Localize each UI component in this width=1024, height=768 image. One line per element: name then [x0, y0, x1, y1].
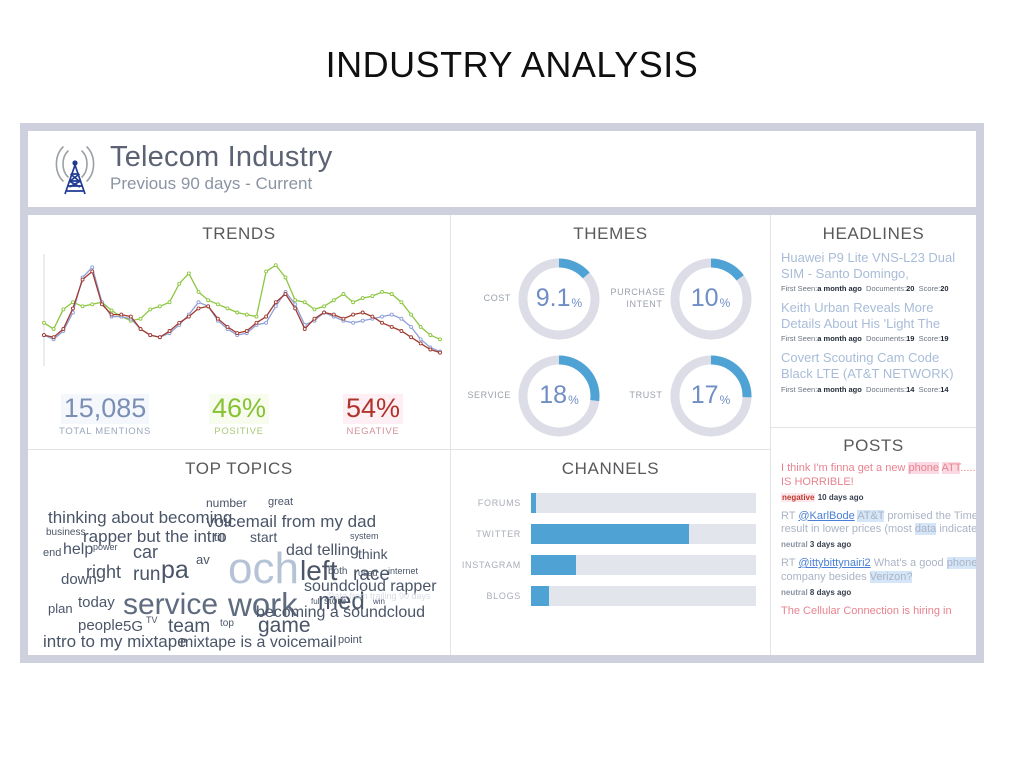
posts-panel: POSTS I think I'm finna get a new phone … — [771, 428, 976, 655]
word-cloud-term[interactable]: becoming a soundcloud — [256, 605, 425, 621]
right-column: HEADLINES Huawei P9 Lite VNS-L23 Dual SI… — [771, 215, 976, 655]
theme-gauge-label: COST — [459, 293, 511, 304]
brand-title: Telecom Industry — [110, 142, 332, 172]
theme-gauge-donut: 10% — [665, 253, 757, 345]
headline-text[interactable]: Covert Scouting Cam Code Black LTE (AT&T… — [781, 350, 968, 381]
brand-subtitle: Previous 90 days - Current — [110, 173, 332, 196]
word-cloud-term[interactable]: today — [78, 595, 115, 610]
theme-gauge-value-wrap: 18% — [513, 350, 605, 442]
post-text-line: The Cellular Connection is hiring in — [781, 605, 968, 619]
theme-gauge-unit: % — [720, 393, 731, 407]
trends-title: TRENDS — [28, 215, 450, 248]
channel-row[interactable]: INSTAGRAM — [457, 555, 756, 575]
word-cloud-term[interactable]: plan — [48, 602, 73, 615]
post-text-line: RT @ittybittynairi2 What's a good phone — [781, 557, 968, 571]
theme-gauge-donut: 17% — [665, 350, 757, 442]
post-text-segment: ..... — [960, 462, 975, 474]
headline-item[interactable]: Covert Scouting Cam Code Black LTE (AT&T… — [781, 350, 968, 393]
word-cloud: ochworkserviceleftmedgameraceteampaavrun… — [28, 485, 450, 645]
headline-meta: First Seen:a month ago Documents:20 Scor… — [781, 284, 968, 293]
post-mention-link[interactable]: @KarlBode — [798, 510, 854, 522]
post-keyword-highlight: phone — [947, 557, 976, 569]
word-cloud-term[interactable]: think — [358, 547, 388, 561]
post-text-segment: The Cellular Connection is hiring in — [781, 605, 952, 617]
channel-bar-list: FORUMSTWITTERINSTAGRAMBLOGS — [451, 483, 770, 606]
word-cloud-term[interactable]: number — [206, 497, 247, 509]
theme-gauge-label: TRUST — [611, 390, 663, 401]
headline-text[interactable]: Keith Urban Reveals More Details About H… — [781, 300, 968, 331]
word-cloud-term[interactable]: people — [78, 618, 123, 633]
headline-text[interactable]: Huawei P9 Lite VNS-L23 Dual SIM - Santo … — [781, 250, 968, 281]
channel-bar-track — [531, 524, 756, 544]
word-cloud-term[interactable]: business — [46, 528, 85, 538]
headline-list: Huawei P9 Lite VNS-L23 Dual SIM - Santo … — [771, 248, 976, 394]
theme-gauge-label: SERVICE — [459, 390, 511, 401]
post-keyword-highlight: phone — [908, 462, 939, 474]
word-cloud-term[interactable]: thinking about becoming — [48, 509, 232, 526]
headline-meta: First Seen:a month ago Documents:19 Scor… — [781, 334, 968, 343]
channel-name: BLOGS — [457, 591, 531, 601]
post-text-segment: promised the Time W — [884, 510, 976, 522]
word-cloud-term[interactable]: run — [133, 565, 160, 584]
theme-gauges: COST9.1%PURCHASEINTENT10%SERVICE18%TRUST… — [451, 248, 770, 444]
word-cloud-term[interactable]: system — [350, 532, 379, 541]
theme-gauge-value-wrap: 17% — [665, 350, 757, 442]
top-topics-title: TOP TOPICS — [28, 450, 450, 483]
theme-gauge-unit: % — [568, 393, 579, 407]
word-cloud-term[interactable]: voicemail from my dad — [206, 513, 376, 530]
dashboard-header: Telecom Industry Previous 90 days - Curr… — [28, 131, 976, 207]
theme-gauge: COST9.1% — [459, 250, 611, 347]
theme-gauge-donut: 18% — [513, 350, 605, 442]
post-meta: neutral 8 days ago — [781, 588, 968, 597]
brand-text: Telecom Industry Previous 90 days - Curr… — [110, 142, 332, 195]
post-keyword-highlight: ATT — [942, 462, 961, 474]
channel-row[interactable]: BLOGS — [457, 586, 756, 606]
headline-item[interactable]: Keith Urban Reveals More Details About H… — [781, 300, 968, 343]
channel-row[interactable]: TWITTER — [457, 524, 756, 544]
post-item[interactable]: The Cellular Connection is hiring in — [781, 605, 968, 619]
post-mention-link[interactable]: @ittybittynairi2 — [798, 557, 870, 569]
channel-bar-fill — [531, 493, 536, 513]
theme-gauge: SERVICE18% — [459, 347, 611, 444]
word-cloud-term[interactable]: mixtape is a voicemail — [180, 635, 337, 651]
headline-meta: First Seen:a month ago Documents:14 Scor… — [781, 385, 968, 394]
word-cloud-term[interactable]: both — [328, 567, 347, 577]
theme-gauge: PURCHASEINTENT10% — [611, 250, 763, 347]
post-text-segment: company besides — [781, 571, 870, 583]
metric-label: POSITIVE — [172, 426, 306, 437]
headlines-panel: HEADLINES Huawei P9 Lite VNS-L23 Dual SI… — [771, 215, 976, 428]
post-text-line: I think I'm finna get a new phone ATT...… — [781, 462, 968, 476]
post-item[interactable]: I think I'm finna get a new phone ATT...… — [781, 462, 968, 502]
channel-bar-fill — [531, 555, 576, 575]
post-text-segment: I think I'm finna get a new — [781, 462, 908, 474]
word-cloud-term[interactable]: internet — [388, 567, 418, 576]
post-meta: neutral 3 days ago — [781, 540, 968, 549]
headlines-title: HEADLINES — [771, 215, 976, 248]
post-timestamp: 10 days ago — [815, 493, 863, 502]
metric-total-mentions: 15,085 TOTAL MENTIONS — [38, 394, 172, 437]
theme-gauge: TRUST17% — [611, 347, 763, 444]
channel-name: FORUMS — [457, 498, 531, 508]
channel-bar-fill — [531, 524, 689, 544]
word-cloud-term[interactable]: great — [268, 497, 293, 508]
post-text-segment: What's a good — [871, 557, 947, 569]
theme-gauge-value: 10 — [691, 284, 719, 313]
posts-title: POSTS — [771, 428, 976, 460]
cell-tower-icon — [46, 141, 104, 197]
post-item[interactable]: RT @ittybittynairi2 What's a good phonec… — [781, 557, 968, 597]
post-keyword-highlight: AT&T — [857, 510, 884, 522]
post-meta: negative 10 days ago — [781, 493, 968, 502]
post-text-segment: IS HORRIBLE! — [781, 476, 854, 488]
channel-bar-fill — [531, 586, 549, 606]
word-cloud-term[interactable]: top — [220, 619, 234, 629]
channel-name: INSTAGRAM — [457, 560, 531, 570]
page-title: INDUSTRY ANALYSIS — [0, 0, 1024, 100]
channel-name: TWITTER — [457, 529, 531, 539]
word-cloud-term[interactable]: start — [250, 530, 277, 544]
word-cloud-term[interactable]: point — [338, 635, 362, 646]
word-cloud-term[interactable]: av — [196, 553, 210, 566]
channels-title: CHANNELS — [451, 450, 770, 483]
channels-panel: CHANNELS FORUMSTWITTERINSTAGRAMBLOGS — [451, 450, 770, 655]
word-cloud-watermark: Data from trailing 90 days — [328, 591, 431, 601]
headline-item[interactable]: Huawei P9 Lite VNS-L23 Dual SIM - Santo … — [781, 250, 968, 293]
word-cloud-term[interactable]: dad telling — [286, 543, 359, 559]
theme-gauge-value-wrap: 9.1% — [513, 253, 605, 345]
theme-gauge-donut: 9.1% — [513, 253, 605, 345]
word-cloud-term[interactable]: pa — [161, 558, 189, 583]
theme-gauge-unit: % — [572, 296, 583, 310]
word-cloud-term[interactable]: used — [358, 569, 378, 578]
word-cloud-term[interactable]: down — [61, 572, 97, 587]
post-text-segment: RT — [781, 510, 798, 522]
post-sentiment-badge: neutral — [781, 588, 808, 597]
post-sentiment-badge: negative — [781, 493, 815, 502]
post-keyword-highlight: data — [915, 523, 936, 535]
post-text-line: IS HORRIBLE! — [781, 476, 968, 490]
themes-title: THEMES — [451, 215, 770, 248]
dashboard-frame: Telecom Industry Previous 90 days - Curr… — [20, 123, 984, 663]
metric-label: TOTAL MENTIONS — [38, 426, 172, 437]
post-text-line: company besides Verizon? — [781, 571, 968, 585]
top-topics-panel: TOP TOPICS ochworkserviceleftmedgamerace… — [28, 450, 450, 655]
theme-gauge-value-wrap: 10% — [665, 253, 757, 345]
post-sentiment-badge: neutral — [781, 540, 808, 549]
theme-gauge-value: 9.1 — [536, 284, 571, 313]
metric-value: 15,085 — [61, 394, 150, 424]
metric-value: 46% — [209, 394, 269, 424]
metric-positive: 46% POSITIVE — [172, 394, 306, 437]
channel-row[interactable]: FORUMS — [457, 493, 756, 513]
trends-line-chart — [28, 248, 450, 388]
metric-label: NEGATIVE — [306, 426, 440, 437]
post-text-line: RT @KarlBode AT&T promised the Time W — [781, 510, 968, 524]
trends-panel: TRENDS 15,085 TOTAL MENTIONS 46% POSITIV… — [28, 215, 450, 450]
post-text-segment: RT — [781, 557, 798, 569]
theme-gauge-unit: % — [720, 296, 731, 310]
theme-gauge-value: 18 — [539, 381, 567, 410]
word-cloud-term[interactable]: TV — [146, 616, 158, 625]
word-cloud-term[interactable]: intro to my mixtape — [43, 633, 187, 650]
post-text-segment: indicated — [936, 523, 976, 535]
left-column: TRENDS 15,085 TOTAL MENTIONS 46% POSITIV… — [28, 215, 451, 655]
post-text-segment: result in lower prices (most — [781, 523, 915, 535]
dashboard-body: TRENDS 15,085 TOTAL MENTIONS 46% POSITIV… — [28, 215, 976, 655]
channel-bar-track — [531, 586, 756, 606]
middle-column: THEMES COST9.1%PURCHASEINTENT10%SERVICE1… — [451, 215, 771, 655]
metric-value: 54% — [343, 394, 403, 424]
channel-bar-track — [531, 555, 756, 575]
metric-negative: 54% NEGATIVE — [306, 394, 440, 437]
theme-gauge-label: PURCHASEINTENT — [611, 287, 663, 310]
post-timestamp: 3 days ago — [808, 540, 852, 549]
post-list: I think I'm finna get a new phone ATT...… — [771, 460, 976, 618]
post-keyword-highlight: Verizon? — [870, 571, 913, 583]
post-item[interactable]: RT @KarlBode AT&T promised the Time Wres… — [781, 510, 968, 550]
trends-metrics: 15,085 TOTAL MENTIONS 46% POSITIVE 54% N… — [28, 388, 450, 437]
post-timestamp: 8 days ago — [808, 588, 852, 597]
word-cloud-term[interactable]: till — [214, 533, 224, 544]
post-text-line: result in lower prices (most data indica… — [781, 523, 968, 537]
channel-bar-track — [531, 493, 756, 513]
word-cloud-term[interactable]: end — [43, 548, 61, 559]
theme-gauge-value: 17 — [691, 381, 719, 410]
themes-panel: THEMES COST9.1%PURCHASEINTENT10%SERVICE1… — [451, 215, 770, 450]
